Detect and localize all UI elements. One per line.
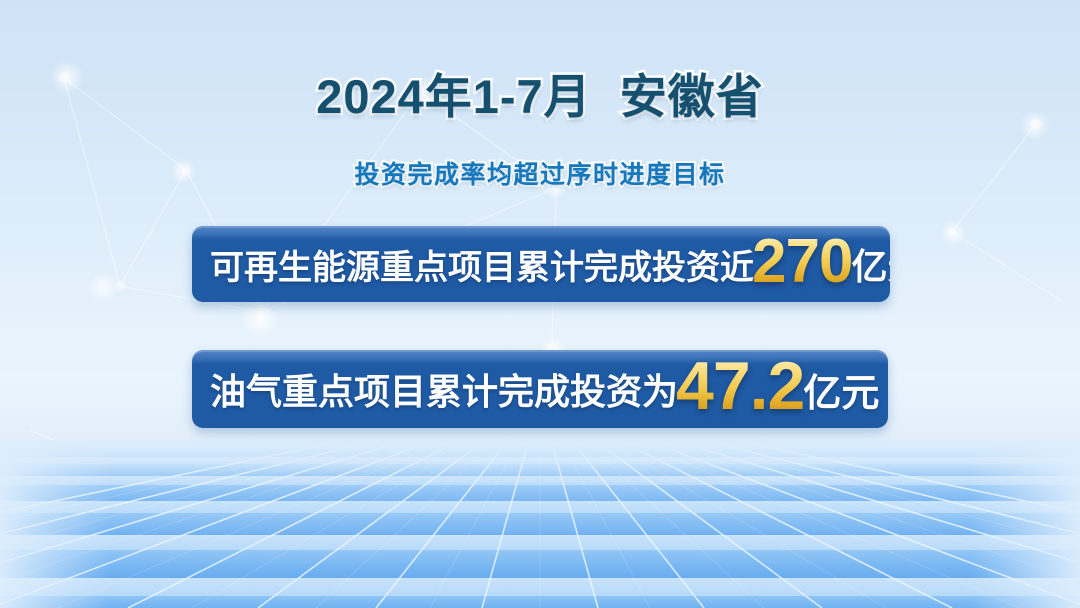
sky-glow-blob xyxy=(88,272,118,302)
page-title: 2024年1-7月 安徽省 xyxy=(0,72,1080,123)
sky-glow-blob xyxy=(940,220,966,246)
perspective-grid xyxy=(0,440,1080,608)
stat-banner-renewable-unit: 亿元 xyxy=(851,238,890,290)
stat-banner-renewable-label: 可再生能源重点项目累计完成投资近 xyxy=(210,240,754,289)
stat-banner-oilgas-unit: 亿元 xyxy=(803,362,879,417)
page-subtitle: 投资完成率均超过序时进度目标 xyxy=(0,155,1080,191)
stat-banner-renewable: 可再生能源重点项目累计完成投资近 270 亿元 xyxy=(192,226,890,302)
stat-banner-oilgas-label: 油气重点项目累计完成投资为 xyxy=(210,363,678,415)
stat-banner-renewable-value: 270 xyxy=(752,234,852,290)
stat-banner-oilgas-value: 47.2 xyxy=(676,356,804,417)
stat-banner-oilgas: 油气重点项目累计完成投资为 47.2 亿元 xyxy=(192,350,888,428)
sky-glow-blob xyxy=(240,300,280,340)
infographic-slide: 2024年1-7月 安徽省 投资完成率均超过序时进度目标 可再生能源重点项目累计… xyxy=(0,0,1080,608)
